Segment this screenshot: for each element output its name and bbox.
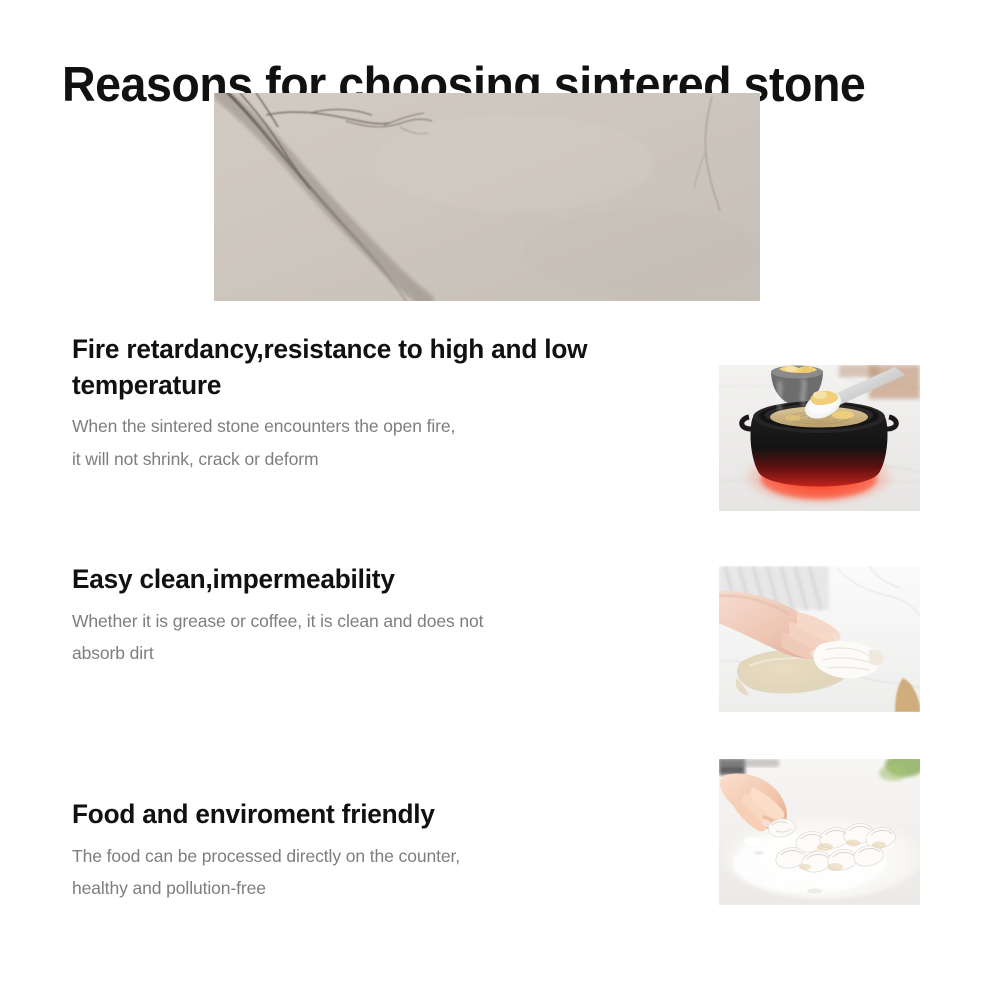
feature-description: Whether it is grease or coffee, it is cl… xyxy=(72,605,712,670)
feature-text-block: Food and enviroment friendly The food ca… xyxy=(72,797,712,904)
feature-description-line: When the sintered stone encounters the o… xyxy=(72,410,712,442)
hand-wiping-graphic xyxy=(719,566,920,712)
feature-heading: Easy clean,impermeability xyxy=(72,562,693,598)
feature-heading: Food and enviroment friendly xyxy=(72,797,693,833)
hot-pot-on-stone-photo xyxy=(719,365,920,511)
feature-description-line: healthy and pollution-free xyxy=(72,872,712,904)
feature-description-line: absorb dirt xyxy=(72,637,712,669)
feature-description-line: The food can be processed directly on th… xyxy=(72,840,712,872)
slab-marble-graphic xyxy=(214,93,760,301)
making-dumplings-on-flour-photo xyxy=(719,759,920,905)
hand-wiping-spill-photo xyxy=(719,566,920,712)
sintered-stone-slab-image xyxy=(214,93,760,301)
hot-pot-graphic xyxy=(719,365,920,511)
feature-text-block: Fire retardancy,resistance to high and l… xyxy=(72,332,712,475)
feature-description-line: it will not shrink, crack or deform xyxy=(72,443,712,475)
poster-page: Reasons for choosing sintered stone xyxy=(0,0,1000,1000)
feature-text-block: Easy clean,impermeability Whether it is … xyxy=(72,562,712,669)
dumplings-graphic xyxy=(719,759,920,905)
feature-description: When the sintered stone encounters the o… xyxy=(72,410,712,475)
feature-description-line: Whether it is grease or coffee, it is cl… xyxy=(72,605,712,637)
feature-heading: Fire retardancy,resistance to high and l… xyxy=(72,332,693,403)
feature-description: The food can be processed directly on th… xyxy=(72,840,712,905)
